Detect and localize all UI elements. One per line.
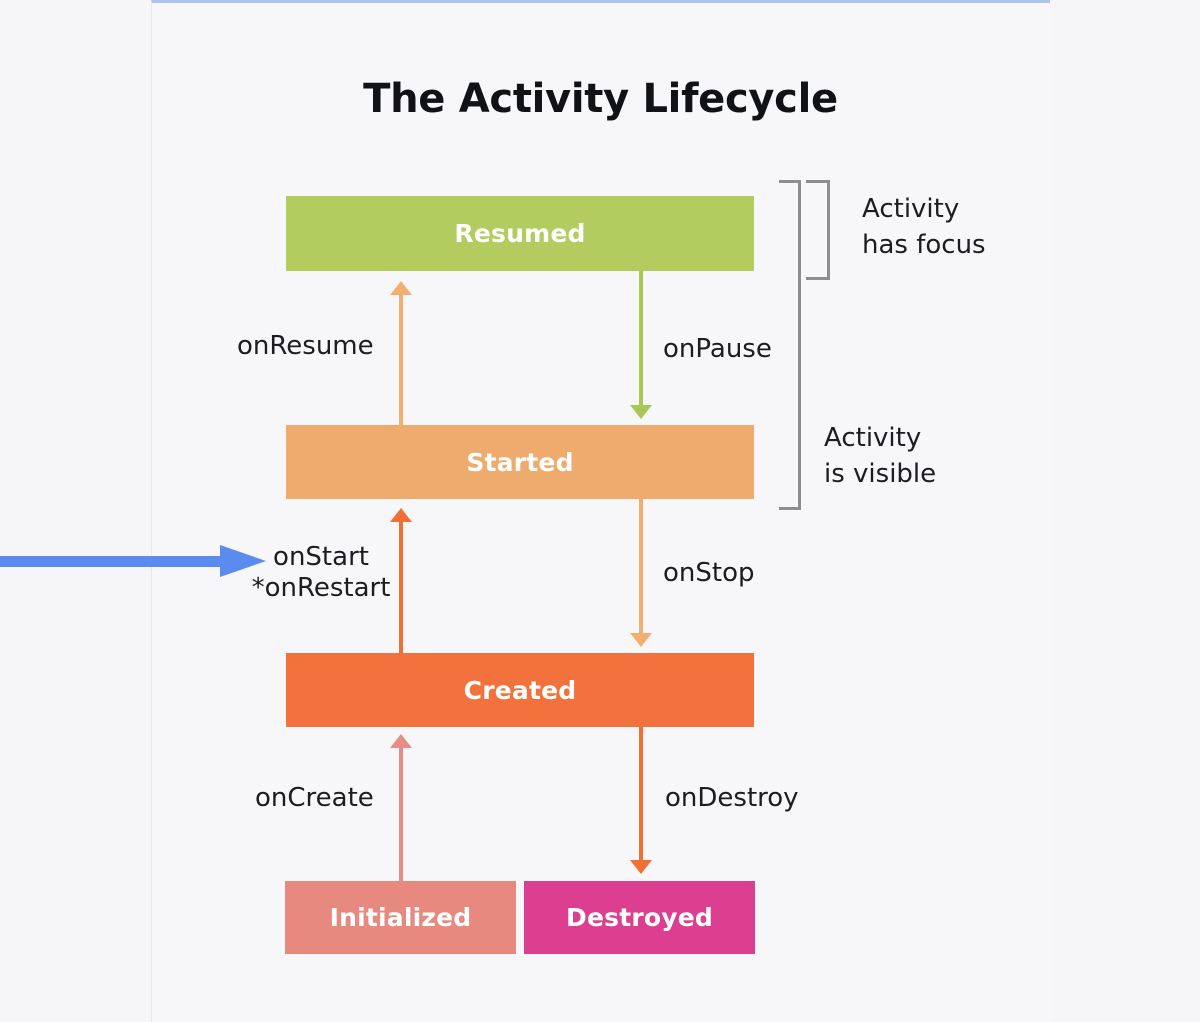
arrow-head-up-icon bbox=[390, 734, 412, 748]
bracket-label-has-focus-line1: Activity bbox=[862, 192, 986, 228]
transition-label-on-stop: onStop bbox=[663, 558, 755, 589]
page-root: The Activity Lifecycle Resumed Started C… bbox=[0, 0, 1200, 1022]
bracket-label-is-visible: Activity is visible bbox=[824, 421, 936, 492]
state-box-resumed[interactable]: Resumed bbox=[286, 196, 754, 271]
state-box-started[interactable]: Started bbox=[286, 425, 754, 499]
arrow-head-down-icon bbox=[630, 405, 652, 419]
state-label-resumed: Resumed bbox=[454, 219, 585, 248]
arrow-shaft bbox=[399, 293, 403, 425]
arrow-head-up-icon bbox=[390, 508, 412, 522]
arrow-on-resume bbox=[390, 281, 412, 425]
state-label-started: Started bbox=[466, 448, 573, 477]
bracket-activity-has-focus bbox=[806, 180, 830, 280]
pointer-shaft bbox=[0, 556, 224, 567]
arrow-on-create bbox=[390, 734, 412, 882]
arrow-shaft bbox=[639, 271, 643, 407]
transition-label-on-pause: onPause bbox=[663, 334, 772, 365]
arrow-on-destroy bbox=[630, 727, 652, 874]
content-panel bbox=[151, 0, 1050, 1022]
bracket-label-has-focus: Activity has focus bbox=[862, 192, 986, 263]
blue-pointer-arrow-icon bbox=[0, 545, 270, 577]
state-box-destroyed[interactable]: Destroyed bbox=[524, 881, 755, 954]
arrow-head-up-icon bbox=[390, 281, 412, 295]
page-title: The Activity Lifecycle bbox=[151, 76, 1050, 122]
bracket-label-is-visible-line2: is visible bbox=[824, 457, 936, 493]
transition-label-on-create: onCreate bbox=[255, 783, 374, 814]
arrow-on-stop bbox=[630, 499, 652, 647]
arrow-shaft bbox=[639, 727, 643, 862]
arrow-shaft bbox=[639, 499, 643, 635]
bracket-label-has-focus-line2: has focus bbox=[862, 228, 986, 264]
state-box-created[interactable]: Created bbox=[286, 653, 754, 727]
transition-label-on-destroy: onDestroy bbox=[665, 783, 799, 814]
arrow-head-down-icon bbox=[630, 860, 652, 874]
state-label-created: Created bbox=[464, 676, 577, 705]
state-label-destroyed: Destroyed bbox=[566, 903, 713, 932]
transition-label-on-resume: onResume bbox=[237, 331, 374, 362]
arrow-shaft bbox=[399, 746, 403, 882]
pointer-head bbox=[220, 545, 266, 577]
bracket-label-is-visible-line1: Activity bbox=[824, 421, 936, 457]
state-label-initialized: Initialized bbox=[330, 903, 472, 932]
transition-label-on-restart-line2: *onRestart bbox=[236, 573, 406, 604]
bracket-activity-is-visible bbox=[779, 180, 801, 510]
arrow-on-pause bbox=[630, 271, 652, 419]
state-box-initialized[interactable]: Initialized bbox=[285, 881, 516, 954]
arrow-head-down-icon bbox=[630, 633, 652, 647]
